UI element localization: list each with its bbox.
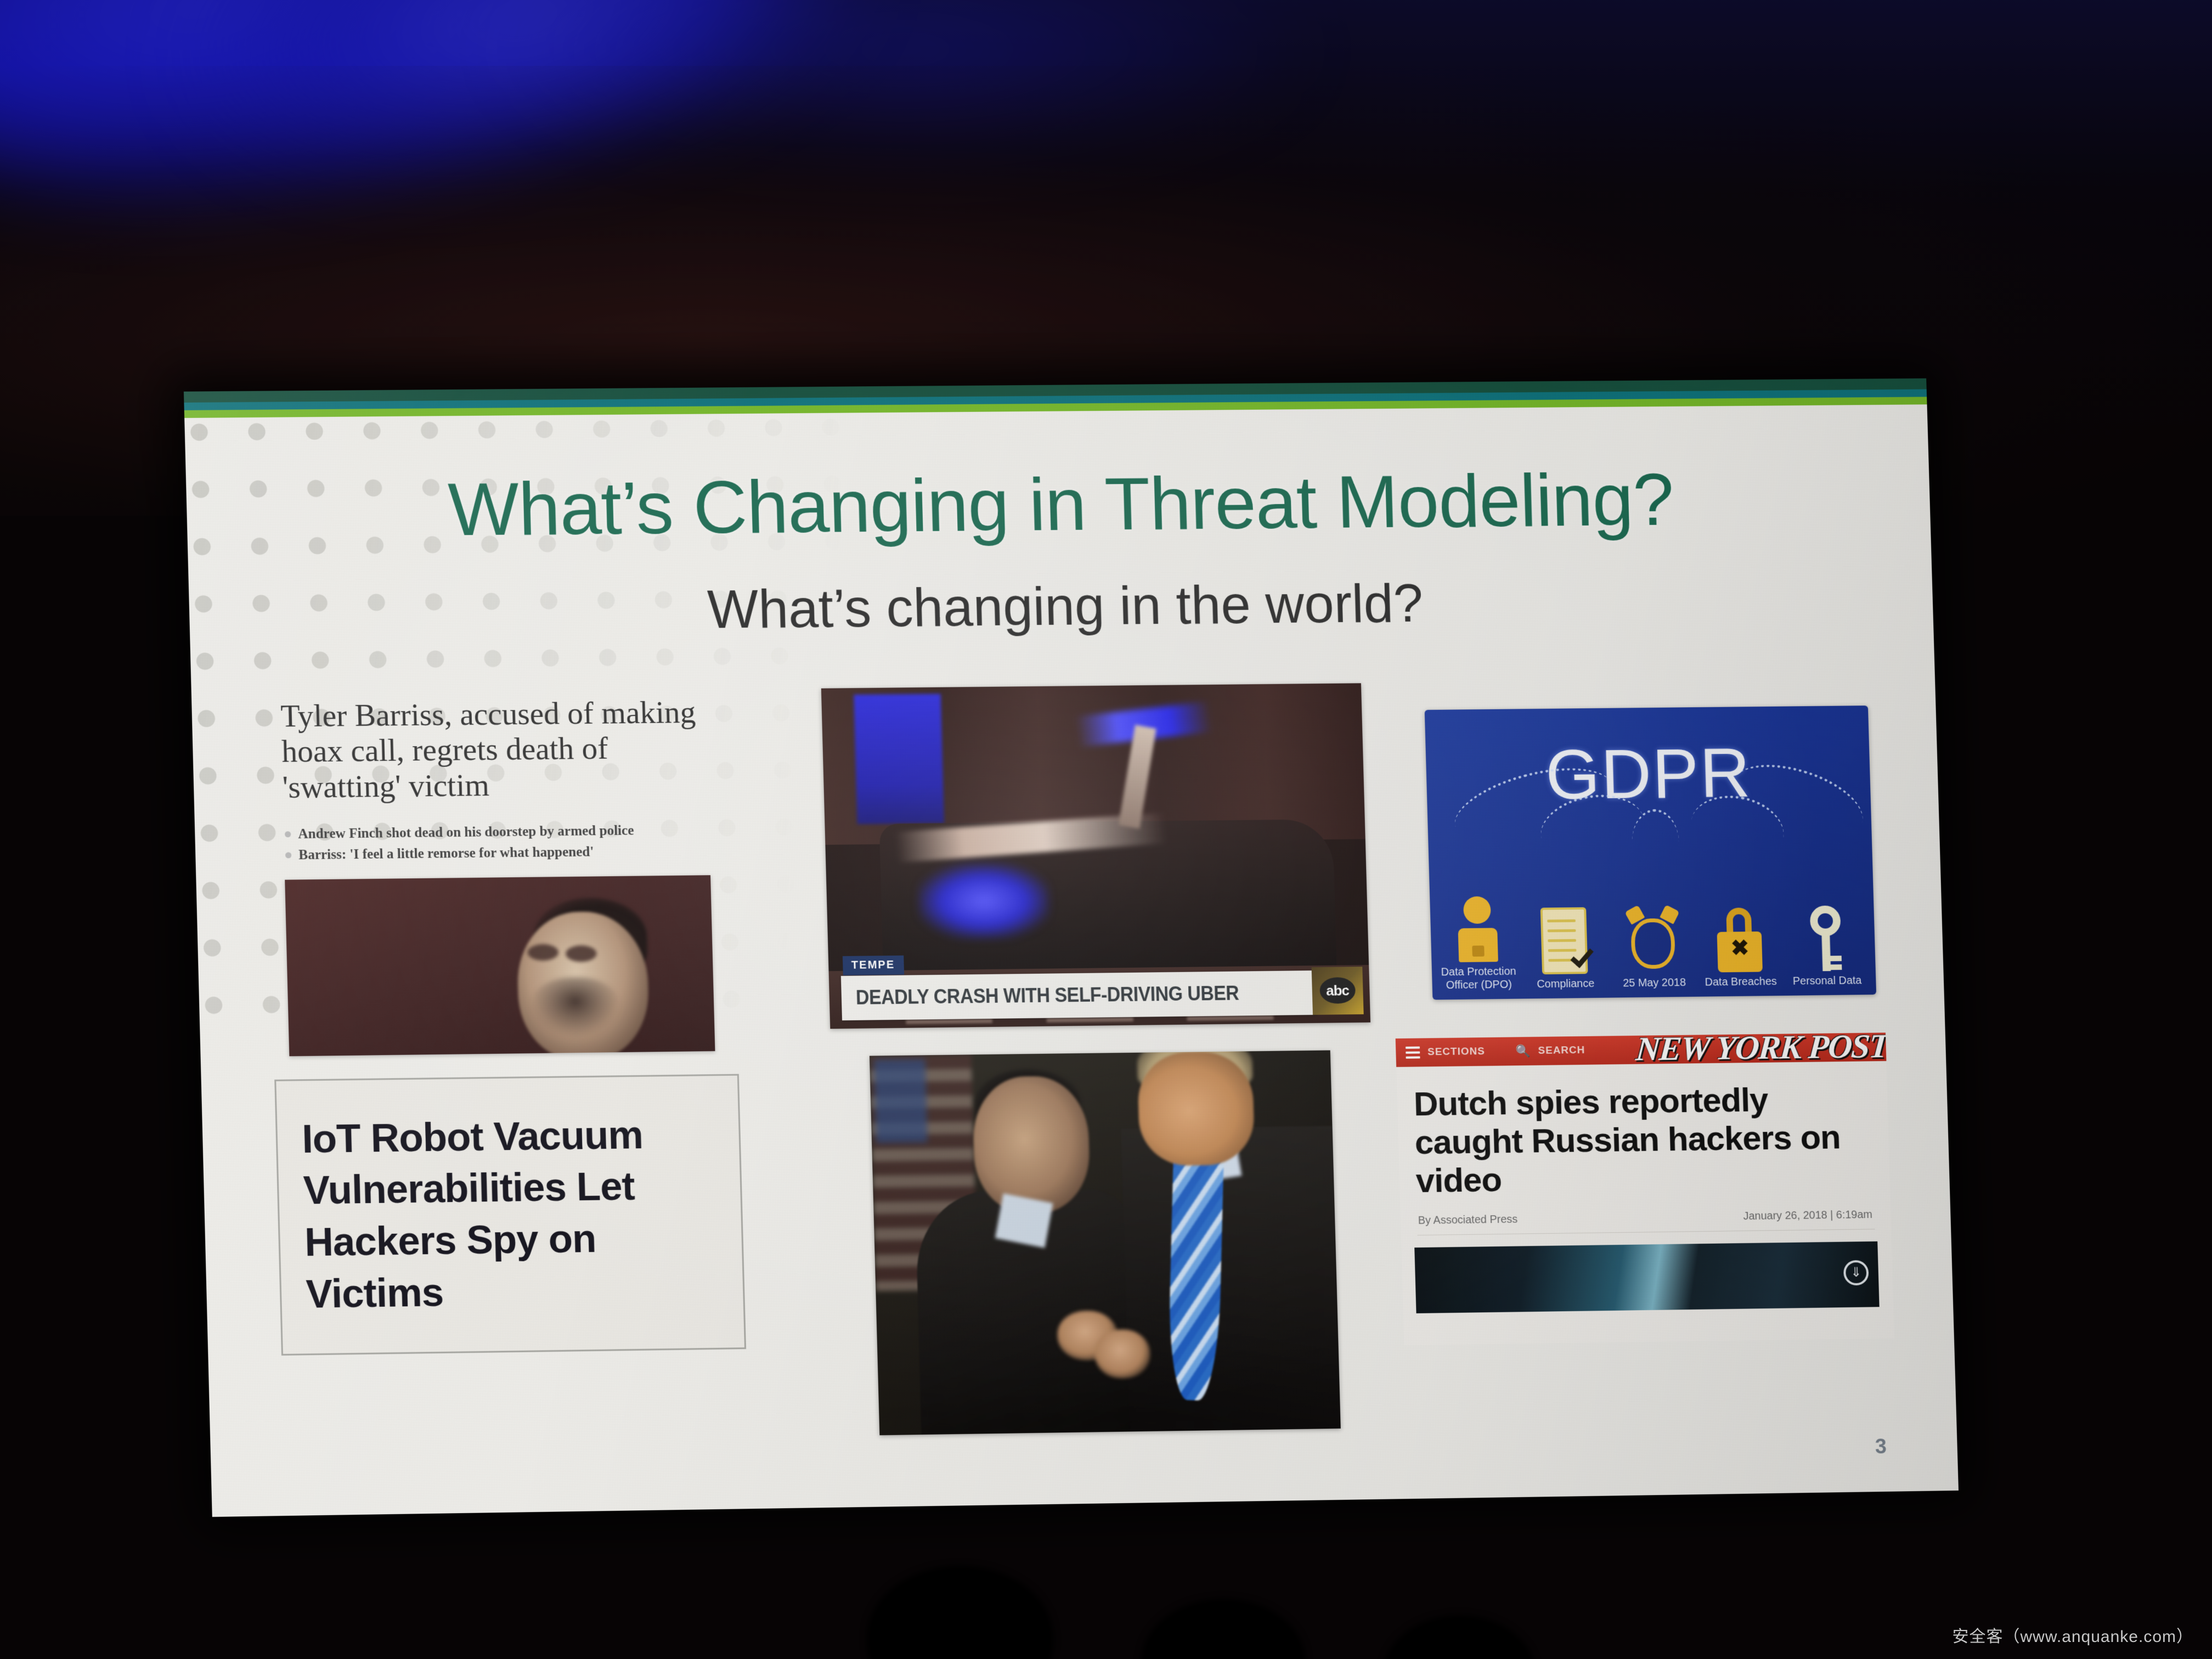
gdpr-label: Compliance (1523, 977, 1608, 991)
blue-light-wall (854, 694, 944, 824)
news-item-barriss: Tyler Barriss, accused of making hoax ca… (280, 695, 732, 1057)
iot-headline-line-2: Vulnerabilities Let (303, 1160, 741, 1217)
police-blue-glow (918, 863, 1049, 939)
chyron-text: DEADLY CRASH WITH SELF-DRIVING UBER (855, 982, 1239, 1009)
padlock-x-icon: ✖ (1696, 890, 1783, 973)
projection-screen: What’s Changing in Threat Modeling? What… (184, 379, 1959, 1517)
gdpr-item-dpo: Data Protection Officer (DPO) (1434, 879, 1521, 992)
arrow-badge-icon[interactable]: ⇓ (1843, 1260, 1869, 1285)
official-shirt-collar (995, 1193, 1053, 1248)
gdpr-label: Data Breaches (1699, 975, 1783, 989)
nypost-video-thumbnail[interactable]: ⇓ (1414, 1242, 1879, 1313)
gdpr-label: Personal Data (1785, 974, 1870, 988)
timestamp: January 26, 2018 | 6:19am (1743, 1209, 1872, 1223)
news-item-nypost: SECTIONS 🔍 SEARCH NEW YORK POST Dutch sp… (1396, 1032, 1894, 1345)
iot-headline: IoT Robot Vacuum Vulnerabilities Let Hac… (301, 1109, 743, 1321)
hamburger-icon[interactable] (1406, 1046, 1420, 1058)
magnifier-icon[interactable]: 🔍 (1515, 1044, 1531, 1058)
sections-label[interactable]: SECTIONS (1427, 1046, 1485, 1058)
mugshot-beard (531, 977, 620, 1038)
slide-page-number: 3 (1875, 1435, 1887, 1459)
stage-light-blue-primary (0, 0, 757, 242)
byline: By Associated Press (1418, 1214, 1518, 1227)
iot-headline-line-1: IoT Robot Vacuum (301, 1109, 740, 1166)
gdpr-card: GDPR Data Protection Of (1425, 706, 1876, 1000)
handshake-hand-right (1094, 1329, 1150, 1379)
barriss-bullet-list: Andrew Finch shot dead on his doorstep b… (284, 820, 727, 866)
gdpr-title: GDPR (1425, 732, 1871, 817)
nypost-nav-bar: SECTIONS 🔍 SEARCH NEW YORK POST (1396, 1032, 1887, 1067)
abc-logo-icon: abc (1319, 977, 1356, 1004)
gdpr-item-compliance: Compliance (1521, 891, 1608, 991)
barriss-headline: Tyler Barriss, accused of making hoax ca… (280, 695, 725, 806)
gdpr-item-deadline: 25 May 2018 (1610, 891, 1697, 990)
alarm-clock-icon (1610, 891, 1696, 974)
gdpr-item-breaches: ✖ Data Breaches (1696, 890, 1784, 989)
trump-meeting-photo (870, 1050, 1341, 1435)
abc-network-bug: abc (1311, 967, 1364, 1015)
us-flag-canton (874, 1059, 927, 1143)
gdpr-infographic: GDPR Data Protection Of (1425, 706, 1876, 1000)
list-item: Barriss: 'I feel a little remorse for wh… (284, 840, 727, 866)
stage-haze (0, 0, 2212, 428)
conference-room-photo: What’s Changing in Threat Modeling? What… (0, 0, 2212, 1659)
site-watermark: 安全客（www.anquanke.com） (1953, 1623, 2193, 1647)
stage-light-blue-secondary (160, 0, 888, 227)
search-label[interactable]: SEARCH (1538, 1045, 1585, 1057)
page-subtitle: What’s changing in the world? (189, 568, 1934, 646)
nypost-headline: Dutch spies reportedly caught Russian ha… (1396, 1061, 1890, 1201)
road-dash (1187, 1015, 1273, 1020)
key-icon (1782, 889, 1869, 972)
road-dash (906, 1018, 992, 1024)
gdpr-label: 25 May 2018 (1612, 976, 1696, 990)
slide-accent-bands (184, 379, 1927, 418)
nypost-logo: NEW YORK POST (1634, 1032, 1889, 1066)
news-collage-grid: Tyler Barriss, accused of making hoax ca… (258, 684, 1903, 1466)
official-head (972, 1076, 1091, 1214)
uber-crash-photo: TEMPE DEADLY CRASH WITH SELF-DRIVING UBE… (821, 683, 1370, 1029)
divider (1418, 1229, 1875, 1235)
gdpr-label: Data Protection Officer (DPO) (1436, 965, 1521, 992)
news-item-diplomacy-photo (870, 1050, 1341, 1435)
road-dash (1047, 1017, 1133, 1022)
news-item-iot-vacuum: IoT Robot Vacuum Vulnerabilities Let Hac… (274, 1074, 746, 1356)
page-title: What’s Changing in Threat Modeling? (185, 454, 1931, 554)
audience-head (1141, 1599, 1306, 1659)
audience-head (1383, 1615, 1536, 1659)
gdpr-item-personal-data: Personal Data (1782, 889, 1869, 988)
broadcast-locator-tag: TEMPE (842, 956, 904, 975)
president-head (1137, 1051, 1255, 1166)
nypost-card: SECTIONS 🔍 SEARCH NEW YORK POST Dutch sp… (1396, 1032, 1894, 1345)
news-item-uber-crash: TEMPE DEADLY CRASH WITH SELF-DRIVING UBE… (821, 683, 1370, 1029)
broadcast-chyron: DEADLY CRASH WITH SELF-DRIVING UBER (840, 970, 1317, 1020)
barriss-mugshot-photo (285, 875, 715, 1056)
iot-headline-line-3: Hackers Spy on Victims (304, 1211, 743, 1321)
person-lock-icon (1434, 879, 1520, 962)
audience-head (867, 1566, 1053, 1659)
presentation-slide: What’s Changing in Threat Modeling? What… (184, 379, 1959, 1517)
document-check-icon (1521, 891, 1607, 974)
stage-light-blue-spill (494, 0, 1317, 165)
gdpr-dotted-connector (1631, 809, 1680, 875)
